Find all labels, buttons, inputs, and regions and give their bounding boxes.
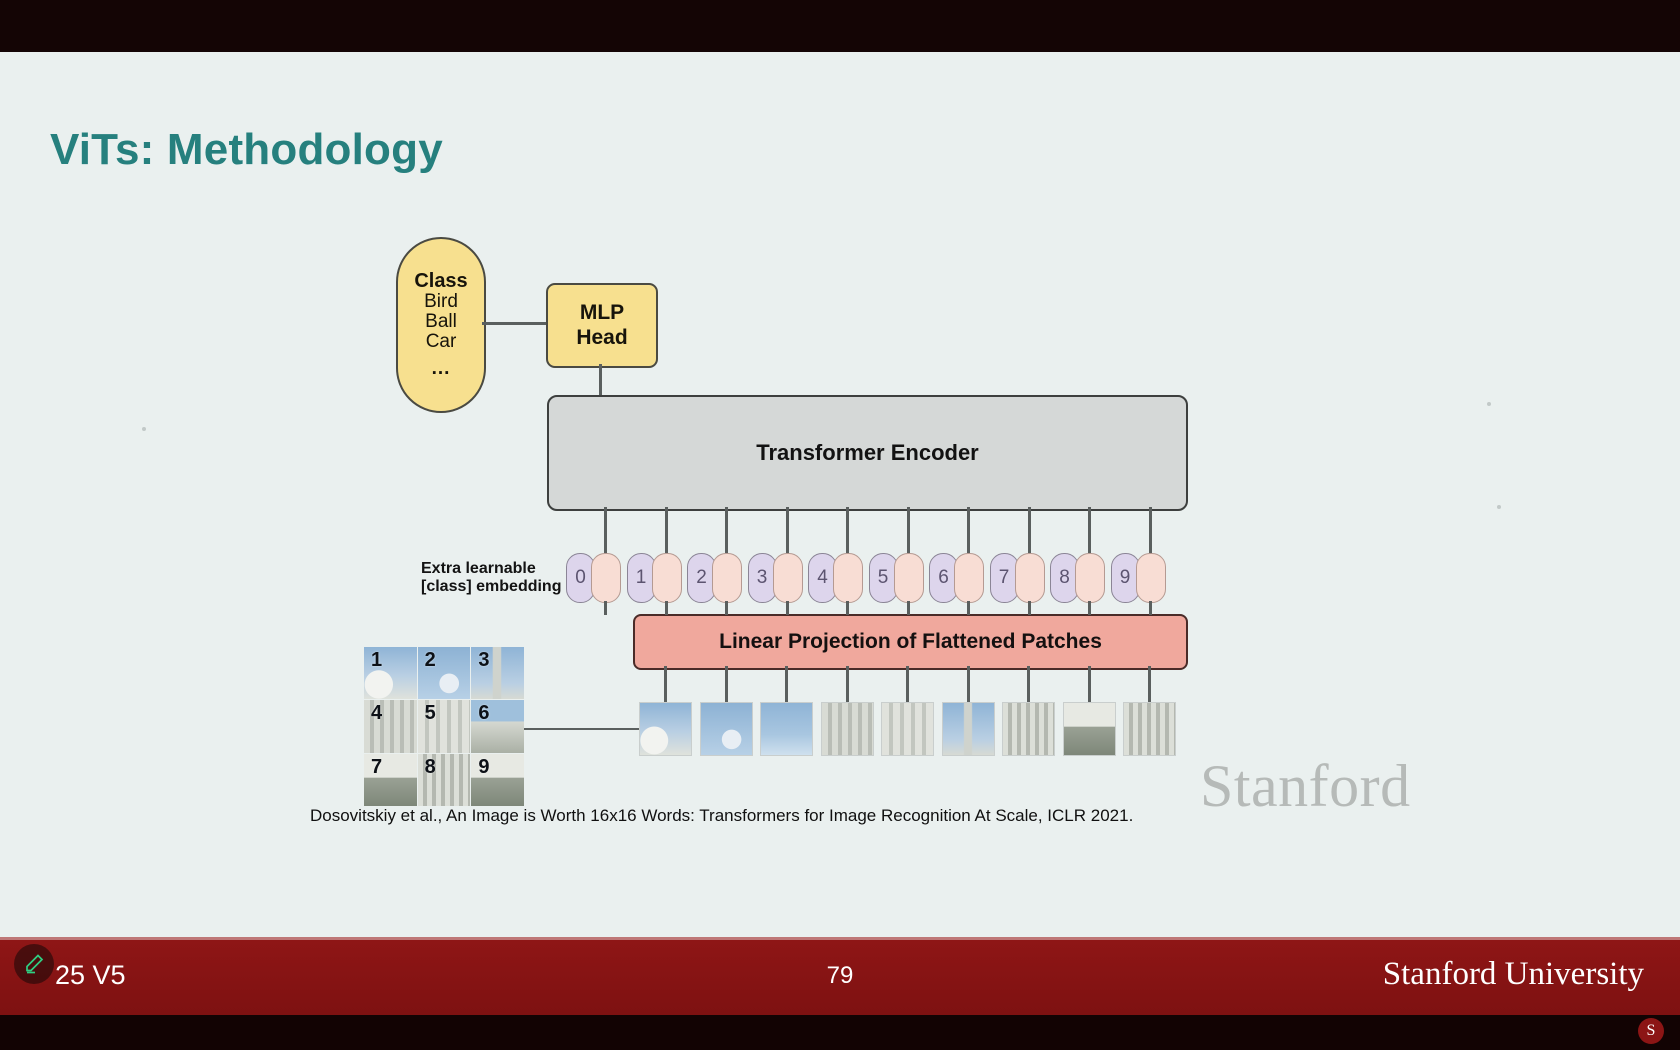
connector-token-0-to-encoder	[604, 507, 607, 553]
connector-grid-to-patches	[524, 728, 642, 730]
image-patch-cell-9: 9	[471, 754, 524, 806]
connector-token-6-to-encoder	[967, 507, 970, 553]
patch-embedding-7	[1015, 553, 1045, 603]
token-4: 4	[808, 553, 860, 601]
image-patch-cell-6: 6	[471, 700, 524, 752]
citation-text: Dosovitskiy et al., An Image is Worth 16…	[310, 806, 1133, 826]
mlp-head-line2: Head	[576, 326, 627, 350]
token-9: 9	[1111, 553, 1163, 601]
flattened-patch-1	[639, 702, 692, 756]
connector-token-8-to-projection	[1088, 601, 1091, 615]
connector-token-4-to-encoder	[846, 507, 849, 553]
patch-embedding-9	[1136, 553, 1166, 603]
connector-projection-to-patch-9	[1148, 666, 1151, 702]
stanford-watermark: Stanford	[1200, 752, 1411, 821]
connector-token-8-to-encoder	[1088, 507, 1091, 553]
linear-projection-bar: Linear Projection of Flattened Patches	[633, 614, 1188, 670]
token-1: 1	[627, 553, 679, 601]
connector-token-7-to-projection	[1028, 601, 1031, 615]
image-patch-number-9: 9	[478, 756, 489, 779]
class-output-box: Class Bird Ball Car ...	[396, 237, 486, 413]
patch-embedding-2	[712, 553, 742, 603]
patch-embedding-1	[652, 553, 682, 603]
flattened-patch-2	[700, 702, 753, 756]
connector-projection-to-patch-5	[906, 666, 909, 702]
class-item-ball: Ball	[425, 312, 457, 332]
token-8: 8	[1050, 553, 1102, 601]
image-patch-number-8: 8	[425, 756, 436, 779]
source-image-patch-grid: 123456789	[364, 647, 524, 806]
token-5: 5	[869, 553, 921, 601]
connector-projection-to-patch-8	[1088, 666, 1091, 702]
mlp-head-box: MLP Head	[546, 283, 658, 368]
transformer-encoder-box: Transformer Encoder	[547, 395, 1188, 511]
pen-icon[interactable]	[14, 944, 54, 984]
connector-token-7-to-encoder	[1028, 507, 1031, 553]
image-patch-number-6: 6	[478, 702, 489, 725]
class-heading: Class	[414, 271, 467, 292]
patch-embedding-4	[833, 553, 863, 603]
image-patch-number-5: 5	[425, 702, 436, 725]
extra-embedding-line2: [class] embedding	[421, 578, 581, 596]
patch-embedding-5	[894, 553, 924, 603]
university-name: Stanford University	[1383, 956, 1644, 993]
patch-embedding-3	[773, 553, 803, 603]
class-ellipsis: ...	[432, 359, 451, 379]
connector-token-5-to-encoder	[907, 507, 910, 553]
class-item-car: Car	[426, 332, 457, 352]
connector-token-6-to-projection	[967, 601, 970, 615]
flattened-patch-3	[760, 702, 813, 756]
connector-token-9-to-projection	[1149, 601, 1152, 615]
mlp-head-line1: MLP	[580, 301, 624, 325]
connector-token-3-to-encoder	[786, 507, 789, 553]
image-patch-cell-1: 1	[364, 647, 417, 699]
connector-projection-to-patch-6	[967, 666, 970, 702]
image-patch-cell-4: 4	[364, 700, 417, 752]
image-patch-number-2: 2	[425, 649, 436, 672]
token-3: 3	[748, 553, 800, 601]
connector-projection-to-patch-2	[725, 666, 728, 702]
vit-architecture-diagram: Class Bird Ball Car ... MLP Head Transfo…	[0, 52, 1680, 937]
stanford-seal-badge: S	[1638, 1018, 1664, 1044]
connector-token-1-to-projection	[665, 601, 668, 615]
connector-projection-to-patch-1	[664, 666, 667, 702]
token-2: 2	[687, 553, 739, 601]
token-0: 0	[566, 553, 618, 601]
image-patch-number-4: 4	[371, 702, 382, 725]
image-patch-cell-3: 3	[471, 647, 524, 699]
letterbox-bottom	[0, 1015, 1680, 1050]
image-patch-number-7: 7	[371, 756, 382, 779]
connector-token-3-to-projection	[786, 601, 789, 615]
flattened-patch-5	[881, 702, 934, 756]
patch-embedding-0	[591, 553, 621, 603]
connector-projection-to-patch-7	[1027, 666, 1030, 702]
flattened-patch-4	[821, 702, 874, 756]
screen-capture: ViTs: Methodology Class Bird Ball Car ..…	[0, 0, 1680, 1050]
connector-token-5-to-projection	[907, 601, 910, 615]
image-patch-cell-2: 2	[418, 647, 471, 699]
token-6: 6	[929, 553, 981, 601]
image-patch-cell-5: 5	[418, 700, 471, 752]
extra-learnable-embedding-label: Extra learnable [class] embedding	[421, 560, 581, 596]
image-patch-number-1: 1	[371, 649, 382, 672]
slide-canvas: ViTs: Methodology Class Bird Ball Car ..…	[0, 52, 1680, 937]
image-patch-number-3: 3	[478, 649, 489, 672]
connector-token-1-to-encoder	[665, 507, 668, 553]
connector-projection-to-patch-3	[785, 666, 788, 702]
image-patch-cell-7: 7	[364, 754, 417, 806]
connector-token-2-to-projection	[725, 601, 728, 615]
patch-embedding-8	[1075, 553, 1105, 603]
letterbox-top	[0, 0, 1680, 52]
connector-projection-to-patch-4	[846, 666, 849, 702]
flattened-patch-7	[1002, 702, 1055, 756]
patch-embedding-6	[954, 553, 984, 603]
slide-footer-bar: 25 V5 79 Stanford University	[0, 937, 1680, 1015]
connector-mlp-to-encoder	[599, 364, 602, 397]
connector-token-0-to-projection	[604, 601, 607, 615]
flattened-patch-9	[1123, 702, 1176, 756]
footer-top-highlight	[0, 937, 1680, 940]
connector-token-2-to-encoder	[725, 507, 728, 553]
connector-token-4-to-projection	[846, 601, 849, 615]
token-7: 7	[990, 553, 1042, 601]
flattened-patch-8	[1063, 702, 1116, 756]
connector-class-to-mlp	[482, 322, 548, 325]
class-item-bird: Bird	[424, 292, 458, 312]
flattened-patch-6	[942, 702, 995, 756]
image-patch-cell-8: 8	[418, 754, 471, 806]
connector-token-9-to-encoder	[1149, 507, 1152, 553]
extra-embedding-line1: Extra learnable	[421, 560, 581, 578]
